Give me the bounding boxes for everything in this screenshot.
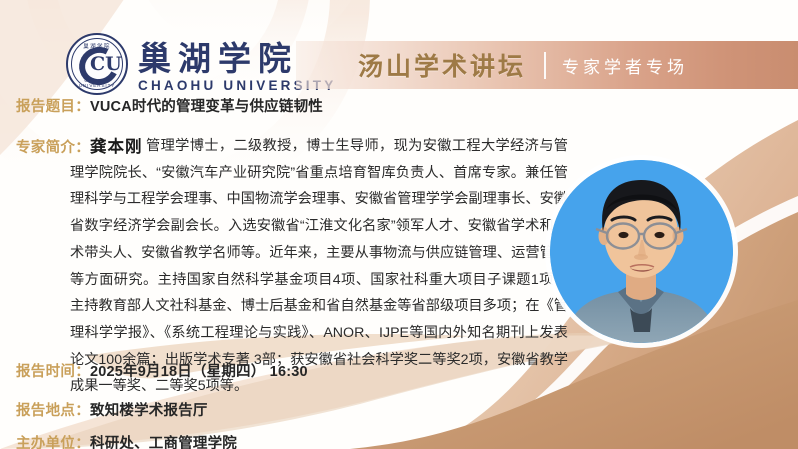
portrait-illustration [550, 160, 733, 343]
host-label: 主办单位： [16, 436, 90, 449]
forum-title: 汤山学术讲坛 [358, 47, 526, 83]
emblem-monogram: CU [90, 55, 122, 74]
host-value: 科研处、工商管理学院 [90, 436, 237, 449]
topic-value: VUCA时代的管理变革与供应链韧性 [90, 99, 323, 115]
banner-divider [544, 52, 546, 79]
time-label: 报告时间： [16, 364, 90, 380]
host-row: 主办单位：科研处、工商管理学院 [16, 432, 237, 449]
time-value: 2025年9月18日（星期四） 16:30 [90, 364, 308, 380]
place-value: 致知楼学术报告厅 [90, 403, 208, 419]
seminar-poster: 巢湖学院 CU CHAOHU UNIVERSITY 巢湖学院 CHAOHU UN… [0, 0, 798, 449]
topic-row: 报告题目：VUCA时代的管理变革与供应链韧性 [16, 95, 323, 116]
university-emblem-icon: 巢湖学院 CU CHAOHU UNIVERSITY [66, 33, 128, 95]
forum-subtitle: 专家学者专场 [562, 53, 688, 78]
emblem-top-label: 巢湖学院 [68, 42, 126, 50]
forum-banner: 汤山学术讲坛 专家学者专场 [296, 41, 798, 89]
topic-label: 报告题目： [16, 99, 90, 115]
emblem-bottom-label: CHAOHU UNIVERSITY [68, 78, 126, 88]
place-row: 报告地点：致知楼学术报告厅 [16, 399, 208, 420]
time-row: 报告时间：2025年9月18日（星期四） 16:30 [16, 360, 308, 381]
speaker-portrait [550, 160, 733, 343]
place-label: 报告地点： [16, 403, 90, 419]
